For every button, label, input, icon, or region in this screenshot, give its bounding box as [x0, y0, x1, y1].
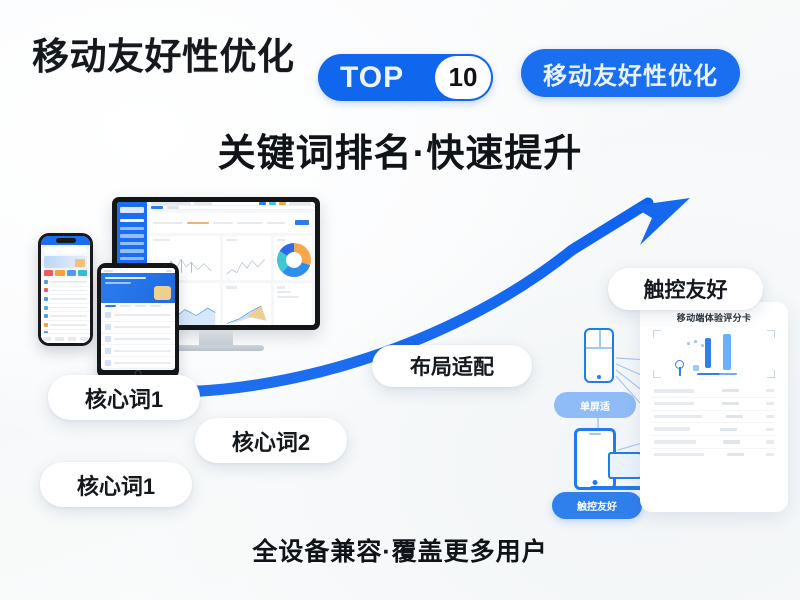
- diagram-pill-touch-friendly-label: 触控友好: [577, 498, 617, 513]
- score-card-chart: [653, 330, 775, 378]
- footer-caption: 全设备兼容·覆盖更多用户: [0, 532, 800, 568]
- floating-pill-layout-adapt[interactable]: 布局适配: [372, 345, 532, 387]
- diagram-device-nodes: 单屏适 触控友好: [540, 300, 650, 515]
- mobile-experience-score-card: 移动端体验评分卡: [640, 302, 788, 512]
- floating-pill-keyword-1[interactable]: 核心词1: [48, 375, 200, 420]
- table-row: [651, 436, 777, 449]
- phone-search-bar: [44, 247, 87, 254]
- table-row: [651, 423, 777, 436]
- floating-pill-keyword-2[interactable]: 核心词2: [195, 418, 347, 463]
- floating-pill-keyword-3[interactable]: 核心词1: [40, 462, 192, 507]
- table-row: [651, 449, 777, 461]
- poster-canvas: 移动友好性优化 TOP 10 移动友好性优化 关键词排名·快速提升: [0, 0, 800, 600]
- floating-pill-keyword-1-label: 核心词1: [85, 382, 163, 414]
- table-row: [651, 411, 777, 424]
- diagram-pill-screen-adapt-label: 单屏适: [580, 398, 610, 413]
- page-title: 移动友好性优化: [32, 26, 295, 80]
- smartphone-mockup: [38, 233, 93, 346]
- score-card-title: 移动端体验评分卡: [649, 311, 779, 324]
- compatibility-diagram: 单屏适 触控友好 移动端体验评分卡: [540, 300, 790, 515]
- score-card-rows: [649, 385, 779, 461]
- top-rank-badge: TOP 10: [318, 54, 493, 101]
- table-row: [651, 385, 777, 398]
- diagram-pill-screen-adapt: 单屏适: [554, 392, 636, 418]
- floating-pill-keyword-3-label: 核心词1: [77, 469, 155, 501]
- diagram-pill-touch-friendly: 触控友好: [552, 492, 642, 519]
- device-mockup-group: [22, 185, 342, 405]
- phone-notch: [56, 238, 76, 243]
- page-subtitle: 关键词排名·快速提升: [0, 122, 800, 177]
- floating-pill-keyword-2-label: 核心词2: [232, 425, 310, 457]
- floating-pill-touch-friendly[interactable]: 触控友好: [608, 268, 763, 310]
- keyword-highlight-pill: 移动友好性优化: [521, 49, 740, 97]
- table-row: [651, 398, 777, 411]
- keyword-highlight-label: 移动友好性优化: [543, 56, 718, 91]
- top-badge-word: TOP: [340, 61, 404, 95]
- floating-pill-layout-adapt-label: 布局适配: [410, 351, 494, 381]
- tablet-mockup: [97, 263, 179, 379]
- floating-pill-touch-friendly-label: 触控友好: [644, 274, 728, 304]
- tablet-node-icon: [584, 328, 614, 383]
- top-badge-number: 10: [435, 56, 491, 99]
